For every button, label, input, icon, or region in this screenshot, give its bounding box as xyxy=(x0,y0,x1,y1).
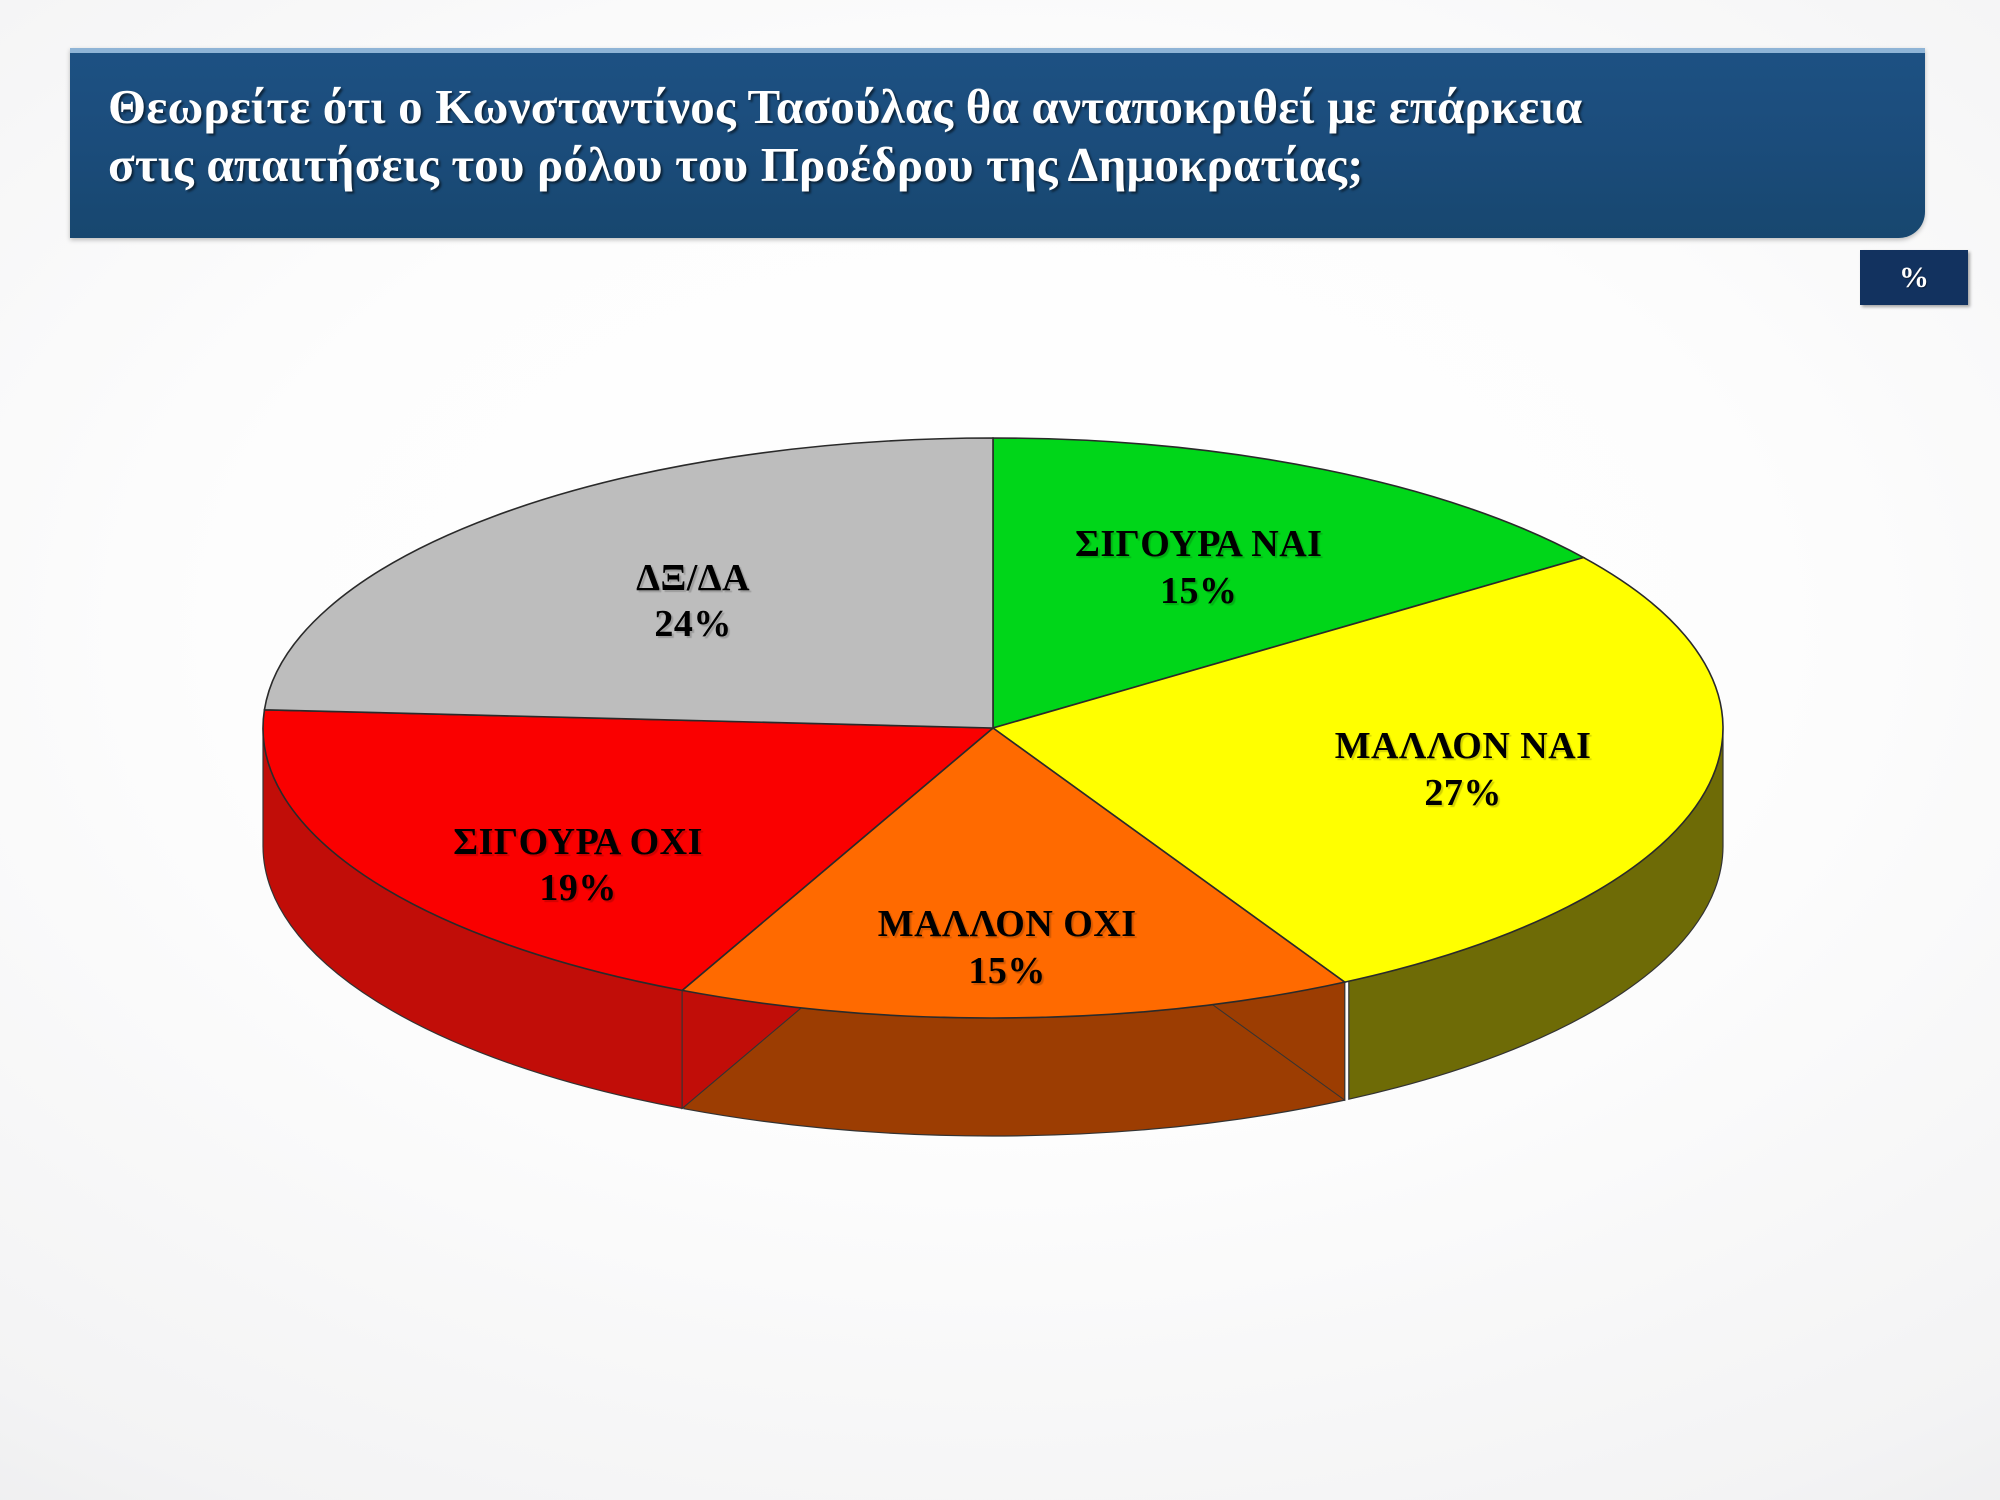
page-title: Θεωρείτε ότι ο Κωνσταντίνος Τασούλας θα … xyxy=(108,78,1887,194)
pie-slice xyxy=(264,438,993,728)
title-bar: Θεωρείτε ότι ο Κωνσταντίνος Τασούλας θα … xyxy=(70,48,1925,238)
pie-chart-svg xyxy=(0,280,2000,1300)
poll-slide: Θεωρείτε ότι ο Κωνσταντίνος Τασούλας θα … xyxy=(0,0,2000,1500)
footer: A NEWS alco The pulse of society xyxy=(0,1340,2000,1500)
pie-chart: ΣΙΓΟΥΡΑ ΝΑΙ15%ΜΑΛΛΟΝ ΝΑΙ27%ΜΑΛΛΟΝ ΟΧΙ15%… xyxy=(0,280,2000,1300)
